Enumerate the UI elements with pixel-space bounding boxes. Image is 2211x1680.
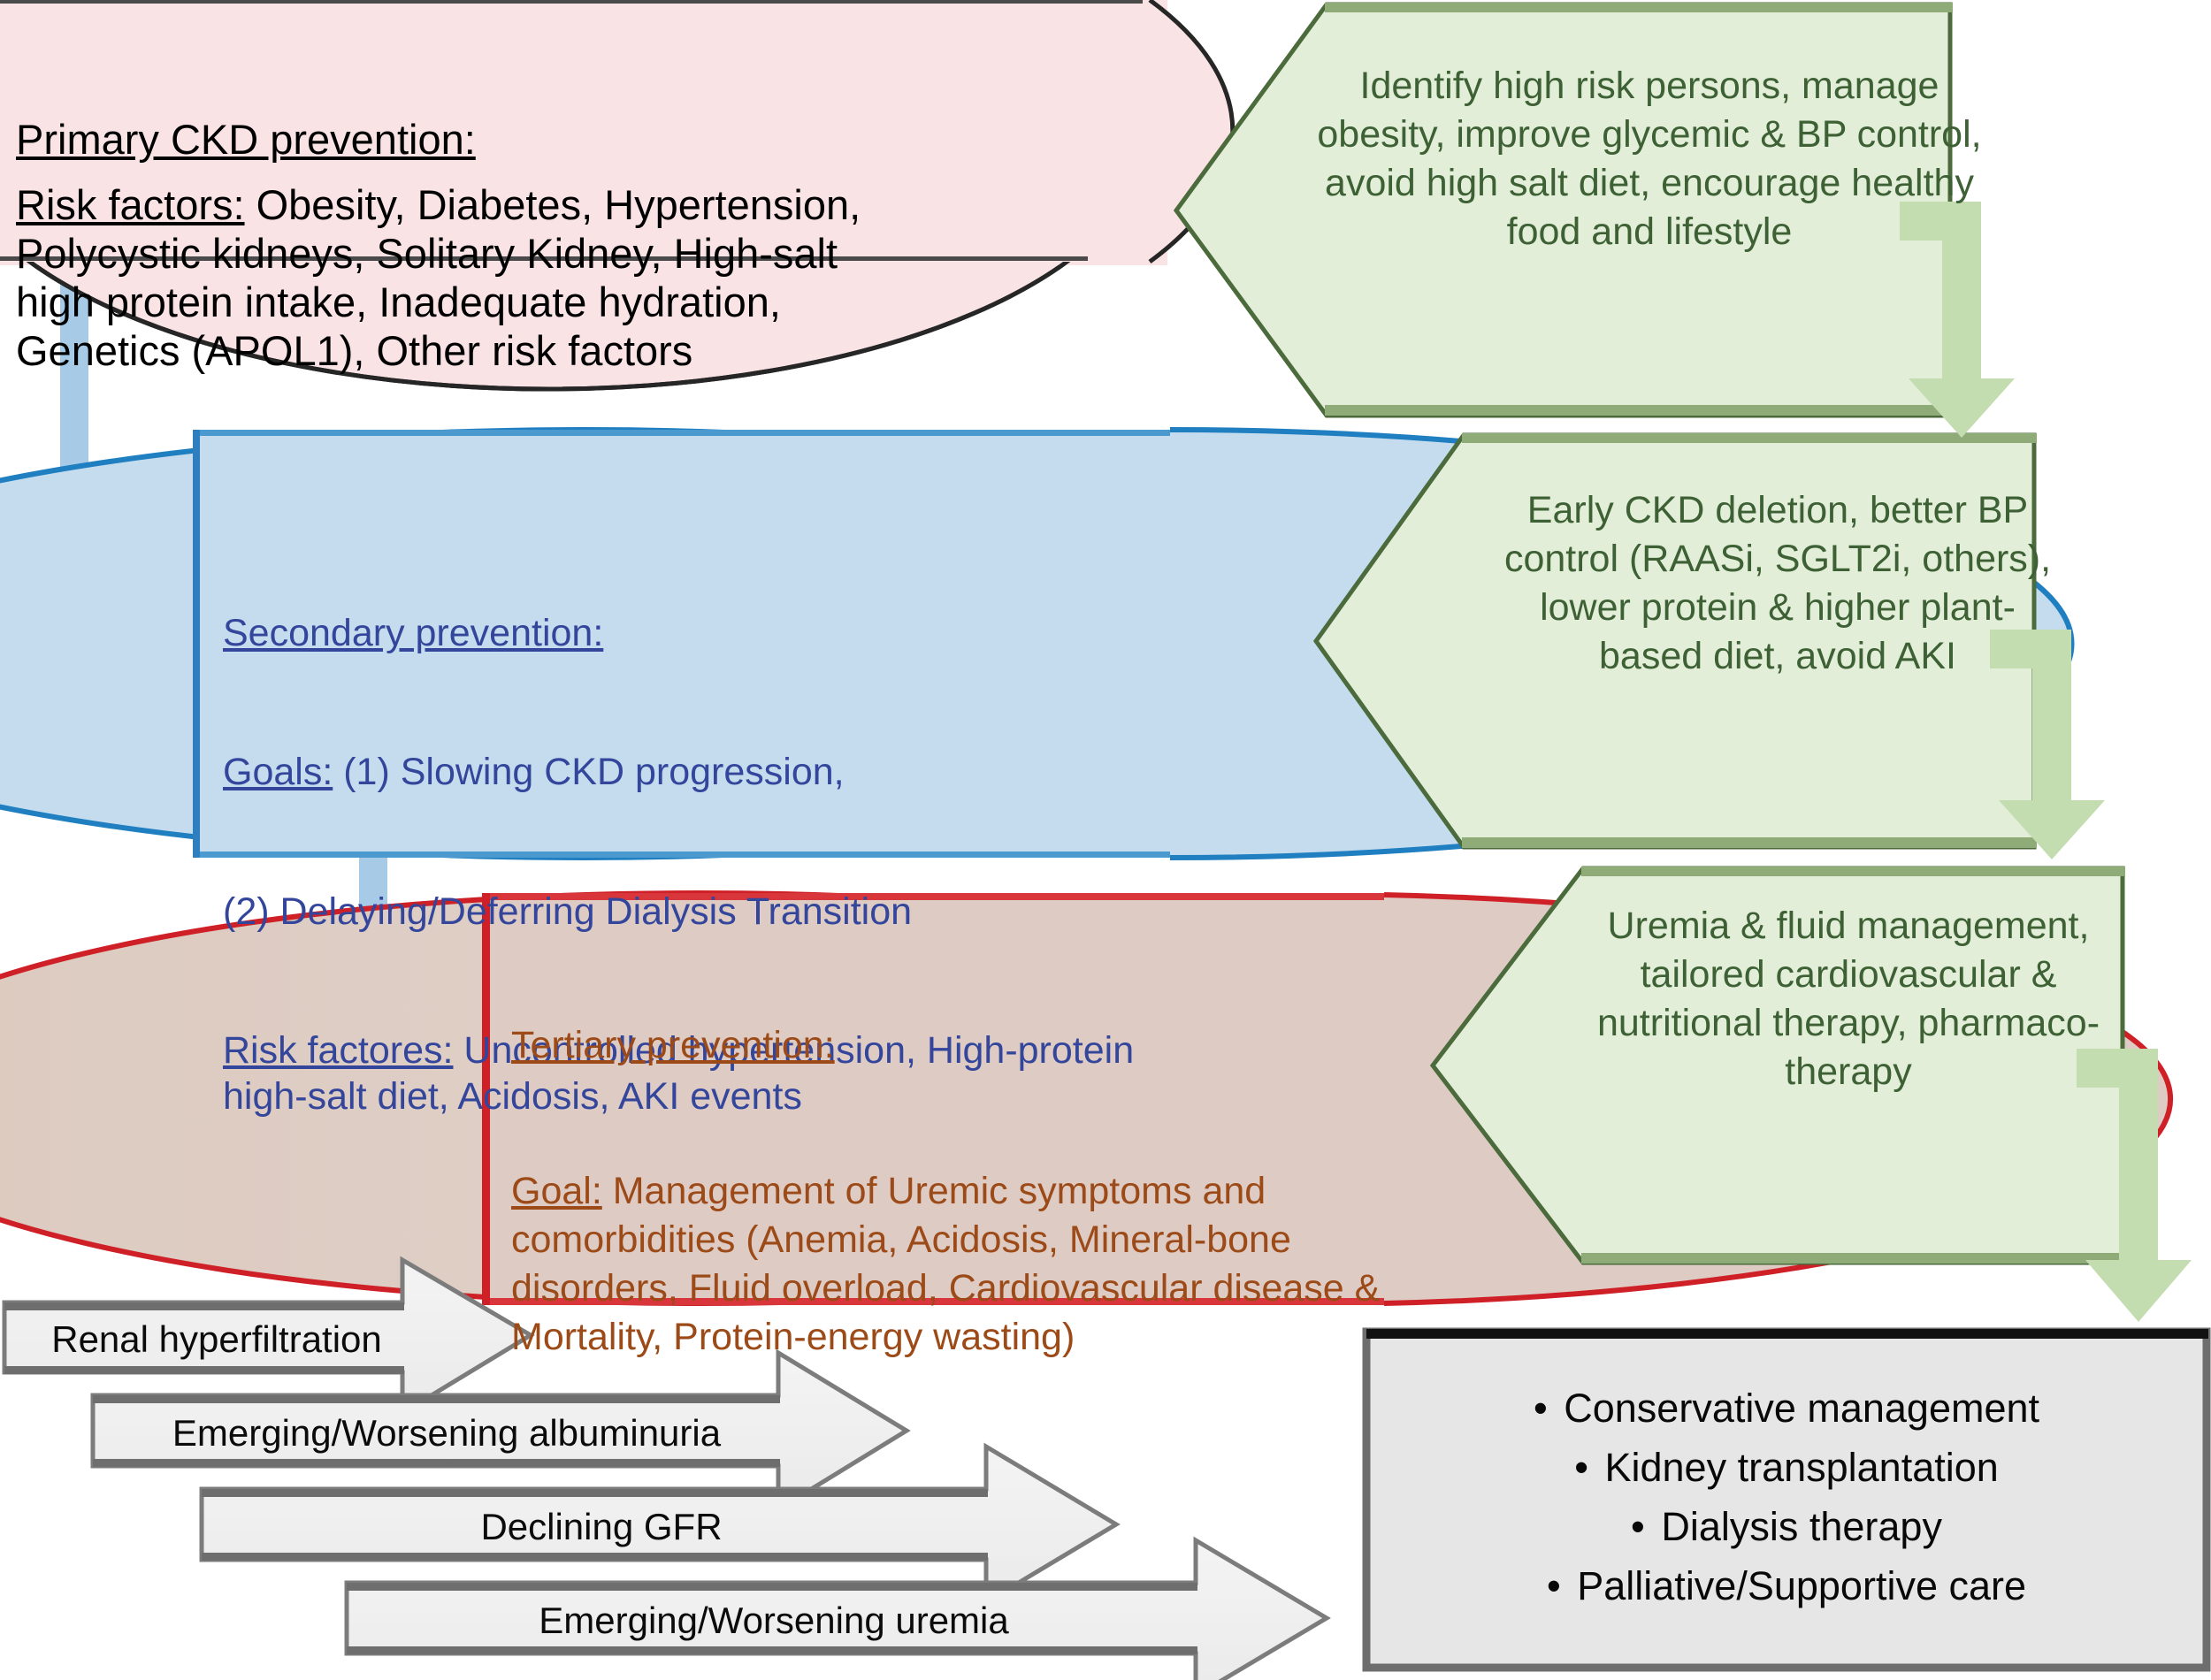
banner-albuminuria-label: Emerging/Worsening albuminuria	[111, 1415, 783, 1452]
outcomes-list: • Conservative management • Kidney trans…	[1366, 1335, 2207, 1664]
banner-uremia-label: Emerging/Worsening uremia	[363, 1602, 1185, 1639]
tertiary-goal-label: Goal:	[511, 1170, 602, 1212]
outcome-label: Conservative management	[1564, 1386, 2039, 1431]
banner-renal-hyperfiltration-label: Renal hyperfiltration	[27, 1321, 407, 1358]
banner-declining-gfr-label: Declining GFR	[221, 1508, 982, 1546]
list-item: • Conservative management	[1393, 1378, 2180, 1438]
hexagon-tertiary-actions-label: Uremia & fluid management, tailored card…	[1592, 902, 2105, 1096]
hexagon-primary-actions-label: Identify high risk persons, manage obesi…	[1300, 62, 1999, 256]
primary-prevention-text: Primary CKD prevention:Risk factors: Obe…	[16, 18, 900, 424]
secondary-risk-label: Risk factores:	[223, 1029, 453, 1072]
secondary-goals-label: Goals:	[223, 751, 333, 793]
tertiary-prevention-text: Tertiary prevention: Goal: Management of…	[511, 924, 1413, 1459]
bullet-icon: •	[1547, 1563, 1566, 1608]
outcome-label: Palliative/Supportive care	[1577, 1563, 2026, 1608]
list-item: • Palliative/Supportive care	[1393, 1556, 2180, 1615]
secondary-heading: Secondary prevention:	[223, 612, 603, 654]
tertiary-heading: Tertiary prevention:	[511, 1024, 835, 1066]
secondary-goals-line1: (1) Slowing CKD progression,	[333, 751, 844, 793]
diagram-canvas: Primary CKD prevention:Risk factors: Obe…	[0, 0, 2211, 1680]
outcome-label: Dialysis therapy	[1661, 1504, 1942, 1549]
tertiary-goal-body: Management of Uremic symptoms and comorb…	[511, 1170, 1390, 1358]
outcome-label: Kidney transplantation	[1604, 1445, 1998, 1490]
list-item: • Kidney transplantation	[1393, 1438, 2180, 1497]
bullet-icon: •	[1574, 1445, 1594, 1490]
bullet-icon: •	[1534, 1386, 1553, 1431]
hexagon-secondary-actions-label: Early CKD deletion, better BP control (R…	[1503, 486, 2052, 681]
primary-risk-label: Risk factors:	[16, 181, 245, 228]
primary-heading: Primary CKD prevention:	[16, 115, 900, 164]
list-item: • Dialysis therapy	[1393, 1497, 2180, 1556]
bullet-icon: •	[1631, 1504, 1650, 1549]
